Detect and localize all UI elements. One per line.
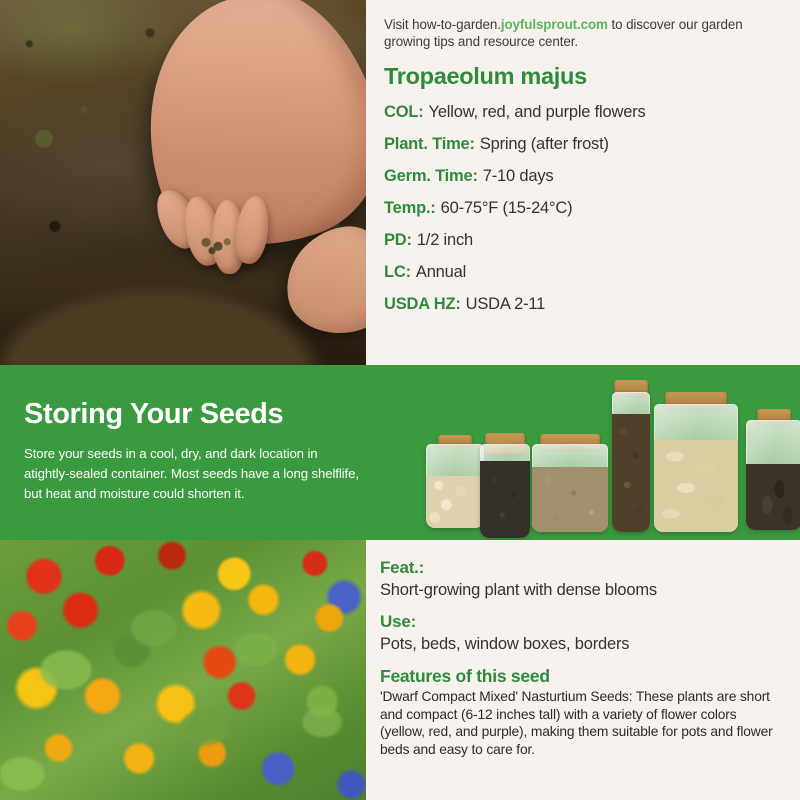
plant-info-panel: Visit how-to-garden.joyfulsprout.com to … — [366, 0, 800, 365]
spec-row-pd: PD: 1/2 inch — [384, 225, 782, 255]
features-heading: Features of this seed — [380, 666, 784, 687]
spec-row-lc: LC: Annual — [384, 257, 782, 287]
jar-glass — [746, 420, 800, 530]
website-link[interactable]: joyfulsprout.com — [501, 17, 608, 32]
jar-contents — [426, 476, 484, 528]
jar-contents — [746, 464, 800, 530]
features-body: 'Dwarf Compact Mixed' Nasturtium Seeds: … — [380, 688, 784, 758]
feature-block: Feat.: Short-growing plant with dense bl… — [380, 558, 784, 601]
nasturtium-flowers-photo — [0, 540, 366, 800]
spec-row-plant-time: Plant. Time: Spring (after frost) — [384, 129, 782, 159]
spec-label: LC: — [384, 257, 411, 287]
spec-label: Germ. Time: — [384, 161, 478, 191]
features-of-seed-block: Features of this seed 'Dwarf Compact Mix… — [380, 666, 784, 758]
seed-storage-jars-photo — [420, 390, 800, 540]
storing-seeds-section: Storing Your Seeds Store your seeds in a… — [0, 365, 800, 540]
features-panel: Feat.: Short-growing plant with dense bl… — [366, 540, 800, 800]
feat-value: Short-growing plant with dense blooms — [380, 579, 784, 601]
spec-row-temp: Temp.: 60-75°F (15-24°C) — [384, 193, 782, 223]
spec-value: Yellow, red, and purple flowers — [429, 97, 646, 127]
seed-jar — [480, 444, 530, 538]
jar-contents — [654, 440, 738, 532]
seed-jar — [612, 392, 650, 532]
jar-glass — [654, 404, 738, 532]
spec-row-col: COL: Yellow, red, and purple flowers — [384, 97, 782, 127]
top-section: Visit how-to-garden.joyfulsprout.com to … — [0, 0, 800, 365]
species-name: Tropaeolum majus — [384, 63, 782, 90]
spec-label: PD: — [384, 225, 412, 255]
spec-label: COL: — [384, 97, 424, 127]
bottom-section: Feat.: Short-growing plant with dense bl… — [0, 540, 800, 800]
seed-jar — [426, 444, 484, 528]
jar-contents — [480, 461, 530, 538]
jar-glass — [532, 444, 608, 532]
jar-glass — [612, 392, 650, 532]
use-value: Pots, beds, window boxes, borders — [380, 633, 784, 655]
spec-value: USDA 2-11 — [466, 289, 546, 319]
spec-value: 7-10 days — [483, 161, 554, 191]
use-block: Use: Pots, beds, window boxes, borders — [380, 612, 784, 655]
spec-value: Annual — [416, 257, 466, 287]
feat-label: Feat.: — [380, 558, 784, 578]
seeds-in-hand — [196, 232, 236, 258]
spec-value: 1/2 inch — [417, 225, 473, 255]
use-label: Use: — [380, 612, 784, 632]
spec-label: Plant. Time: — [384, 129, 475, 159]
jar-glass — [426, 444, 484, 528]
spec-list: COL: Yellow, red, and purple flowers Pla… — [384, 97, 782, 319]
jar-contents — [532, 467, 608, 532]
seed-packet-infographic: Visit how-to-garden.joyfulsprout.com to … — [0, 0, 800, 800]
spec-label: USDA HZ: — [384, 289, 461, 319]
storing-title: Storing Your Seeds — [24, 398, 283, 431]
jar-contents — [612, 414, 650, 532]
spec-value: Spring (after frost) — [480, 129, 609, 159]
spec-row-germ-time: Germ. Time: 7-10 days — [384, 161, 782, 191]
visit-line: Visit how-to-garden.joyfulsprout.com to … — [384, 16, 782, 50]
spec-label: Temp.: — [384, 193, 436, 223]
spec-value: 60-75°F (15-24°C) — [441, 193, 573, 223]
seed-jar — [654, 404, 738, 532]
seed-jar — [532, 444, 608, 532]
visit-prefix: Visit how-to-garden. — [384, 17, 501, 32]
hand-sowing-seeds-in-soil-photo — [0, 0, 366, 365]
spec-row-usda-hz: USDA HZ: USDA 2-11 — [384, 289, 782, 319]
storing-body: Store your seeds in a cool, dry, and dar… — [24, 444, 364, 504]
jar-glass — [480, 444, 530, 538]
seed-jar — [746, 420, 800, 530]
foliage-overlay — [0, 540, 366, 800]
